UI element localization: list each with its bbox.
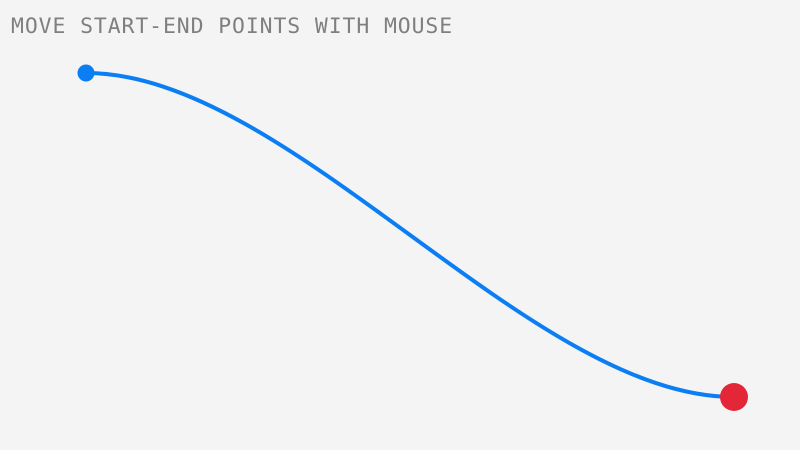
start-point-handle[interactable] [78,65,95,82]
bezier-curve-path [86,73,734,397]
bezier-curve-svg[interactable] [0,0,800,450]
end-point-handle[interactable] [720,383,748,411]
curve-editor-canvas[interactable]: MOVE START-END POINTS WITH MOUSE [0,0,800,450]
